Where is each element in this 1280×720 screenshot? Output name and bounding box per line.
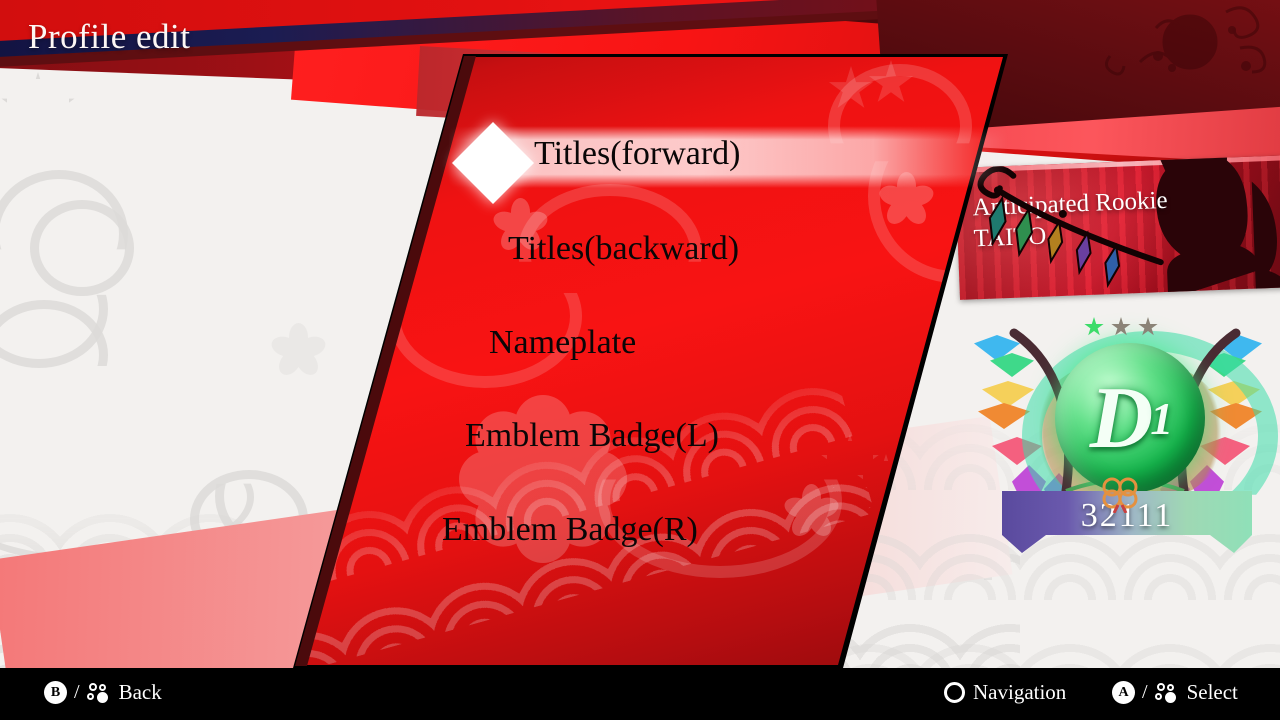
emblem-knot-icon	[1088, 473, 1152, 513]
footer-navigation-hint[interactable]: Navigation	[944, 680, 1066, 705]
a-button-icon: A	[1112, 681, 1135, 704]
select-separator: /	[1141, 681, 1149, 704]
menu-item-emblem-badge-l[interactable]: Emblem Badge(L)	[465, 417, 719, 455]
menu-item-list: Titles(forward) Titles(backward) Namepla…	[268, 54, 1028, 674]
header-chrysanthemum-motif-icon	[990, 0, 1270, 110]
stick-ring-icon	[944, 682, 965, 703]
emblem-rank-number-text: 1	[1150, 392, 1170, 445]
menu-item-titles-forward[interactable]: Titles(forward)	[534, 135, 741, 173]
menu-item-emblem-badge-r[interactable]: Emblem Badge(R)	[442, 511, 698, 549]
emblem-rank-orb: D1	[1055, 343, 1205, 493]
menu-item-titles-backward[interactable]: Titles(backward)	[508, 230, 739, 268]
back-separator: /	[73, 681, 81, 704]
emblem-rank-letter: D1	[1055, 343, 1205, 493]
button-cluster-icon	[87, 683, 111, 703]
emblem-rank-letter-text: D	[1090, 368, 1151, 469]
profile-edit-screen: Profile edit	[0, 0, 1280, 720]
footer-hint-bar: B / Back Navigation A / Select	[0, 668, 1280, 720]
navigation-label: Navigation	[971, 680, 1066, 705]
emblem-star-rating	[1084, 317, 1158, 337]
emblem-star-empty-2	[1111, 317, 1131, 337]
button-cluster-icon-2	[1155, 683, 1179, 703]
select-label: Select	[1185, 680, 1238, 705]
footer-back-hint[interactable]: B / Back	[44, 680, 162, 705]
menu-item-nameplate[interactable]: Nameplate	[489, 324, 636, 362]
b-button-icon: B	[44, 681, 67, 704]
emblem-star-filled-1	[1084, 317, 1104, 337]
menu-panel-wrapper: Titles(forward) Titles(backward) Namepla…	[268, 54, 1028, 674]
emblem-star-empty-3	[1138, 317, 1158, 337]
footer-select-hint[interactable]: A / Select	[1112, 680, 1238, 705]
page-title: Profile edit	[28, 17, 191, 57]
back-label: Back	[117, 680, 162, 705]
